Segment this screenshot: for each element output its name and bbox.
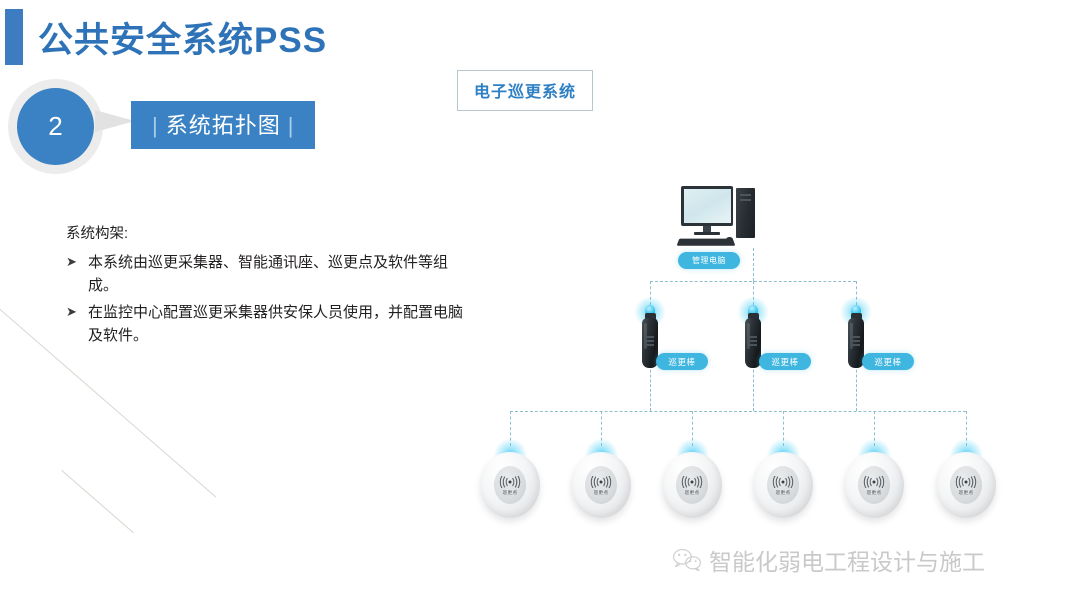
connector-bus-level2	[510, 411, 966, 412]
connector-wand-1-tail	[650, 365, 651, 411]
section-divider-left: |	[145, 113, 166, 138]
diagram-title: 电子巡更系统	[457, 70, 593, 111]
connector-wand-2-tail	[753, 365, 754, 411]
page-title: 公共安全系统PSS	[38, 12, 327, 63]
rfid-signal-icon	[861, 476, 887, 488]
watermark-text: 智能化弱电工程设计与施工	[709, 543, 985, 577]
wand-grip	[851, 336, 860, 338]
patrol-point-device: 巡更点	[571, 446, 631, 518]
patrol-point-device: 巡更点	[844, 446, 904, 518]
point-face: 巡更点	[767, 466, 799, 504]
rfid-signal-icon	[953, 476, 979, 488]
wand-grip	[851, 344, 860, 346]
connector-pc-down	[753, 248, 754, 281]
wand-grip	[851, 340, 860, 342]
wand-grip	[645, 344, 654, 346]
patrol-point-device: 巡更点	[936, 446, 996, 518]
patrol-point-label: 巡更点	[594, 490, 609, 496]
body-copy-block: 系统构架: ➤ 本系统由巡更采集器、智能通讯座、巡更点及软件等组成。 ➤ 在监控…	[66, 222, 466, 350]
patrol-point-label: 巡更点	[867, 490, 882, 496]
monitor-stand-base	[694, 232, 720, 235]
slide-canvas: 公共安全系统PSS 2 |系统拓扑图| 系统构架: ➤ 本系统由巡更采集器、智能…	[0, 0, 1080, 608]
point-face: 巡更点	[585, 466, 617, 504]
point-face: 巡更点	[676, 466, 708, 504]
connector-wand-3-tail	[856, 365, 857, 411]
list-item: ➤ 在监控中心配置巡更采集器供安保人员使用，并配置电脑及软件。	[66, 301, 466, 348]
rfid-signal-icon	[679, 476, 705, 488]
list-item: ➤ 本系统由巡更采集器、智能通讯座、巡更点及软件等组成。	[66, 251, 466, 298]
rfid-signal-icon	[588, 476, 614, 488]
desktop-computer-icon	[681, 186, 756, 248]
wand-grip	[748, 336, 757, 338]
body-intro-text: 系统构架:	[66, 222, 466, 243]
pc-tower-slot	[740, 194, 751, 196]
mouse-icon	[726, 237, 733, 242]
patrol-point-label: 巡更点	[503, 490, 518, 496]
patrol-point-label: 巡更点	[685, 490, 700, 496]
monitor-screen	[684, 189, 731, 223]
label-patrol-wand-3: 巡更棒	[862, 353, 914, 370]
wand-grip	[645, 336, 654, 338]
rfid-signal-icon	[497, 476, 523, 488]
watermark: 智能化弱电工程设计与施工	[672, 543, 985, 577]
patrol-point-label: 巡更点	[959, 490, 974, 496]
badge-pointer-icon	[95, 110, 135, 132]
wand-grip	[645, 340, 654, 342]
pc-tower-slot	[740, 199, 751, 201]
wechat-icon	[672, 548, 702, 572]
label-patrol-wand-1: 巡更棒	[656, 353, 708, 370]
point-face: 巡更点	[494, 466, 526, 504]
section-badge-number: 2	[17, 88, 94, 165]
patrol-point-label: 巡更点	[776, 490, 791, 496]
patrol-point-device: 巡更点	[662, 446, 722, 518]
monitor-body	[681, 186, 733, 226]
wand-grip	[748, 340, 757, 342]
patrol-point-device: 巡更点	[753, 446, 813, 518]
wand-grip	[748, 344, 757, 346]
bullet-text: 本系统由巡更采集器、智能通讯座、巡更点及软件等组成。	[88, 251, 466, 298]
label-management-computer: 管理电脑	[678, 252, 740, 269]
rfid-signal-icon	[770, 476, 796, 488]
section-title-box: |系统拓扑图|	[131, 101, 315, 149]
decorative-diagonal-line-2	[61, 470, 133, 533]
title-accent-bar	[5, 9, 23, 65]
section-divider-right: |	[281, 113, 302, 138]
label-patrol-wand-2: 巡更棒	[759, 353, 811, 370]
bullet-text: 在监控中心配置巡更采集器供安保人员使用，并配置电脑及软件。	[88, 301, 466, 348]
point-face: 巡更点	[950, 466, 982, 504]
bullet-marker-icon: ➤	[66, 251, 88, 298]
point-face: 巡更点	[858, 466, 890, 504]
section-title-label: 系统拓扑图	[166, 113, 281, 138]
bullet-marker-icon: ➤	[66, 301, 88, 348]
patrol-point-device: 巡更点	[480, 446, 540, 518]
